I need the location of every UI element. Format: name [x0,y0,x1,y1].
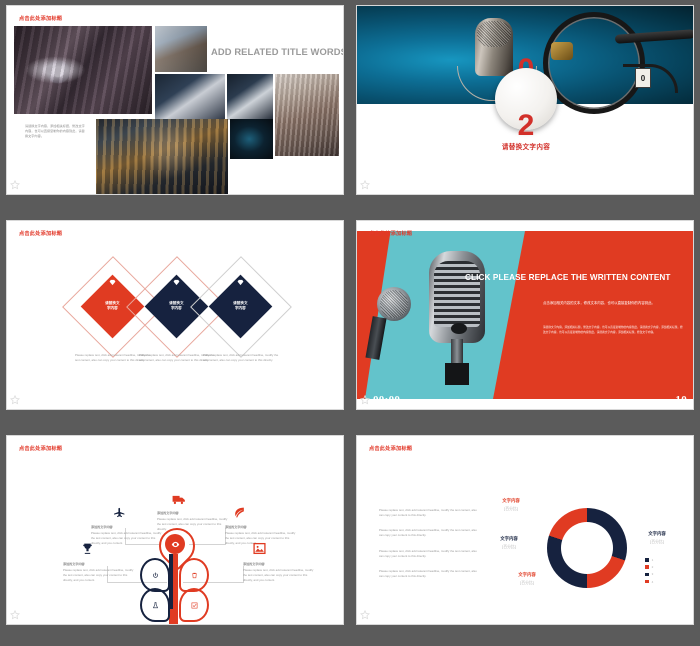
topic-title: 添加的文字内容 [63,561,135,566]
vintage-mic-graphic [429,251,485,343]
donut-hole [561,522,613,574]
star-icon [360,180,370,190]
paragraph: Please replace text, click add relevant … [379,549,479,559]
slide-footer: 00:00 9 [7,390,343,409]
topic-image[interactable]: 添加的文字内容 Please replace text, click add r… [243,561,315,583]
tree-infographic: 添加的文字内容 Please replace text, click add r… [7,436,343,624]
slide-body-text: 请替换文字内容，添加相关标题，修改文字内容，也可以直接复制你的内容到此。请替换文… [543,325,683,334]
footer-timer-group: 00:00 [360,394,400,406]
slide-headline: CLICK PLEASE REPLACE THE WRITTEN CONTENT [465,273,694,282]
topic-title: 添加的文字内容 [157,510,229,515]
mic-stem [451,339,463,365]
diamond-label: 请替换文字内容 [105,301,119,312]
legend-item: 1 [645,558,653,562]
power-icon [142,560,168,590]
star-icon [10,180,20,190]
footer-timer: 00:00 [23,609,50,621]
slide-lead-text: 点击添加相关内容的文本，修改文本内容，也可以直接复制你的内容到此。 [543,301,679,307]
slide-cell-10[interactable]: 点击此处添加标题 CLICK PLEASE REPLACE THE WRITTE… [350,215,700,430]
image-icon [251,540,267,556]
topic-airplane[interactable]: 添加的文字内容 Please replace text, click add r… [91,524,163,546]
star-icon [10,395,20,405]
slide-headline: ADD RELATED TITLE WORDS [211,46,344,57]
legend-label: 3 [652,572,654,576]
footer-timer-group: 00:00 [360,609,400,621]
footer-timer-group: 00:00 [360,179,400,191]
topic-title: 添加的文字内容 [91,524,163,529]
diamond-row: 请替换文字内容 Please replace text, click add r… [7,271,344,381]
footer-timer-group: 00:00 [10,394,50,406]
footer-timer: 00:00 [373,179,400,191]
page-title: 点击此处添加标题 [19,15,62,22]
legend-swatch [645,558,649,562]
footer-timer-group: 00:00 [10,609,50,621]
page-title: 点击此处添加标题 [369,445,412,452]
slide-cell-8[interactable]: 0 0 2 请替换文字内容 00:00 8 [350,0,700,215]
slide-cell-11[interactable]: 点击此处添加标题 [0,430,350,646]
diamond-label: 请替换文字内容 [233,301,247,312]
footer-timer: 00:00 [373,394,400,406]
legend-item: 2 [645,565,653,569]
secondary-mic-graphic [377,287,411,321]
photo-microphone-mixing-board [14,26,152,114]
topic-trophy[interactable]: 添加的文字内容 Please replace text, click add r… [63,561,135,583]
topic-description: Please replace text, click add relevant … [91,531,163,546]
slide-10[interactable]: 点击此处添加标题 CLICK PLEASE REPLACE THE WRITTE… [356,220,694,410]
slide-11[interactable]: 点击此处添加标题 [6,435,344,625]
paragraph: Please replace text, click add relevant … [379,508,479,518]
eye-icon [165,534,185,554]
trash-icon [181,560,207,590]
gem-icon [108,278,117,287]
slide-7[interactable]: 点击此处添加标题 ADD RELATED TITLE WORDS 请替换文字内容… [6,5,344,195]
footer-timer-group: 00:00 [10,179,50,191]
slide-body-text: 请替换文字内容，添加相关标题，修改文字内容，也可以直接复制你的内容到此，请替换文… [25,124,87,139]
footer-page-number: 10 [675,394,687,406]
photo-dark-blue-fiber [230,119,273,159]
legend-item: 3 [645,572,653,576]
topic-description: Please replace text, click add relevant … [157,517,229,532]
topic-title: 添加的文字内容 [225,524,297,529]
chart-legend: 1234 [645,558,653,587]
legend-label: 1 [652,558,654,562]
donut-label-top: 文字内容 [百分比] [481,498,541,512]
photo-laptop-coffee-desk [155,74,225,120]
slide-cell-9[interactable]: 点击此处添加标题 请替换文字内容 Please replace text, cl… [0,215,350,430]
mic-base [445,363,469,385]
leaf-trash[interactable] [179,558,209,592]
footer-timer: 00:00 [373,609,400,621]
topic-description: Please replace text, click add relevant … [63,568,135,583]
footer-timer: 00:00 [23,394,50,406]
slide-footer: 00:00 12 [357,605,693,624]
topic-title: 添加的文字内容 [243,561,315,566]
diamond-label: 请替换文字内容 [169,301,183,312]
truck-icon [171,492,187,508]
donut-label-right: 文字内容 [百分比] [627,531,687,545]
slide-footer: 00:00 7 [7,175,343,194]
slide-9[interactable]: 点击此处添加标题 请替换文字内容 Please replace text, cl… [6,220,344,410]
footer-page-number: 12 [675,609,687,621]
slide-footer: 00:00 8 [357,175,693,194]
legend-item: 4 [645,580,653,584]
star-icon [360,610,370,620]
star-icon [10,610,20,620]
leaf-icon [231,504,247,520]
topic-truck[interactable]: 添加的文字内容 Please replace text, click add r… [157,510,229,532]
paragraph-list: Please replace text, click add relevant … [379,508,479,590]
legend-swatch [645,573,649,577]
leaf-power[interactable] [140,558,170,592]
slide-8[interactable]: 0 0 2 请替换文字内容 00:00 8 [356,5,694,195]
photo-laptop-window-hands [155,26,207,72]
photo-laptop-hands-typing [227,74,273,120]
mic-capsule [451,323,467,334]
slide-12[interactable]: 点击此处添加标题 Please replace text, click add … [356,435,694,625]
diamond-description: Please replace text, click add relevant … [203,353,281,363]
donut-label-bottom: 文字内容 [百分比] [497,572,557,586]
footer-page-number: 8 [681,179,687,191]
donut-label-left: 文字内容 [百分比] [479,536,539,550]
footer-page-number: 9 [331,394,337,406]
gem-icon [172,278,181,287]
legend-label: 2 [652,565,654,569]
photo-hands-keyboard-closeup [275,74,339,156]
page-title: 点击此处添加标题 [19,230,62,237]
legend-swatch [645,580,649,584]
footer-page-number: 7 [331,179,337,191]
legend-label: 4 [652,580,654,584]
slide-cell-12[interactable]: 点击此处添加标题 Please replace text, click add … [350,430,700,646]
airplane-icon [111,504,127,520]
slide-thumbnail-grid: 点击此处添加标题 ADD RELATED TITLE WORDS 请替换文字内容… [0,0,700,646]
page-title: 点击此处添加标题 [369,230,412,237]
star-icon [360,395,370,405]
paragraph: Please replace text, click add relevant … [379,528,479,538]
paragraph: Please replace text, click add relevant … [379,569,479,579]
topic-description: Please replace text, click add relevant … [243,568,315,583]
footer-timer: 00:00 [23,179,50,191]
legend-swatch [645,565,649,569]
slide-footer: 00:00 11 [7,605,343,624]
gem-icon [236,278,245,287]
section-number-bottom: 2 [357,111,694,141]
slide-cell-7[interactable]: 点击此处添加标题 ADD RELATED TITLE WORDS 请替换文字内容… [0,0,350,215]
section-subtitle: 请替换文字内容 [357,141,694,151]
footer-page-number: 11 [326,609,337,621]
slide-footer: 00:00 10 [357,390,693,409]
